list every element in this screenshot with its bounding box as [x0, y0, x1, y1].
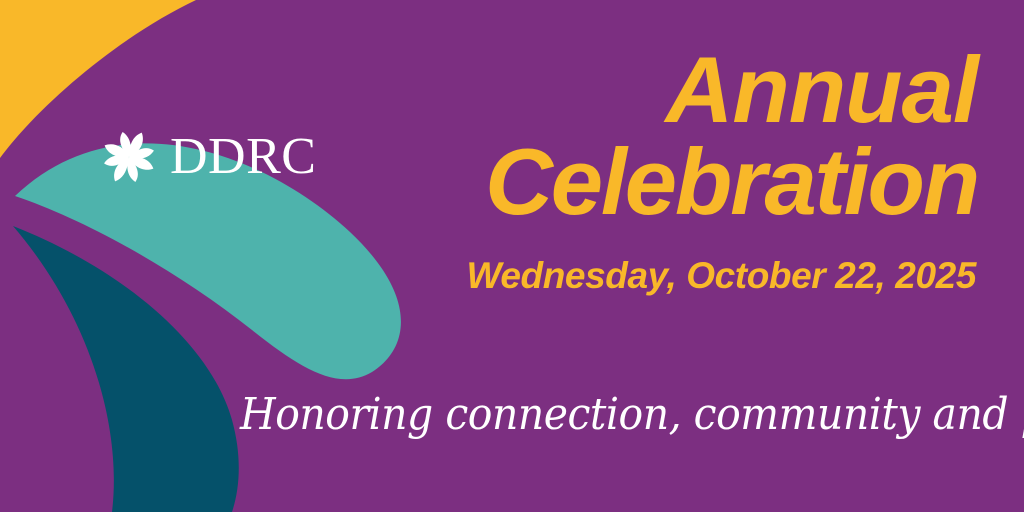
content-layer: DDRC Annual Celebration Wednesday, Octob…: [0, 0, 1024, 512]
annual-celebration-banner: DDRC Annual Celebration Wednesday, Octob…: [0, 0, 1024, 512]
headline-line-1: Annual: [418, 44, 978, 136]
ddrc-logo: DDRC: [100, 128, 316, 186]
tagline: Honoring connection, community and purpo…: [240, 392, 947, 438]
page-title: Annual Celebration: [418, 44, 978, 228]
ddrc-wordmark: DDRC: [170, 131, 316, 183]
event-date: Wednesday, October 22, 2025: [467, 256, 977, 297]
pinwheel-icon: [100, 128, 158, 186]
headline-line-2: Celebration: [418, 136, 978, 228]
